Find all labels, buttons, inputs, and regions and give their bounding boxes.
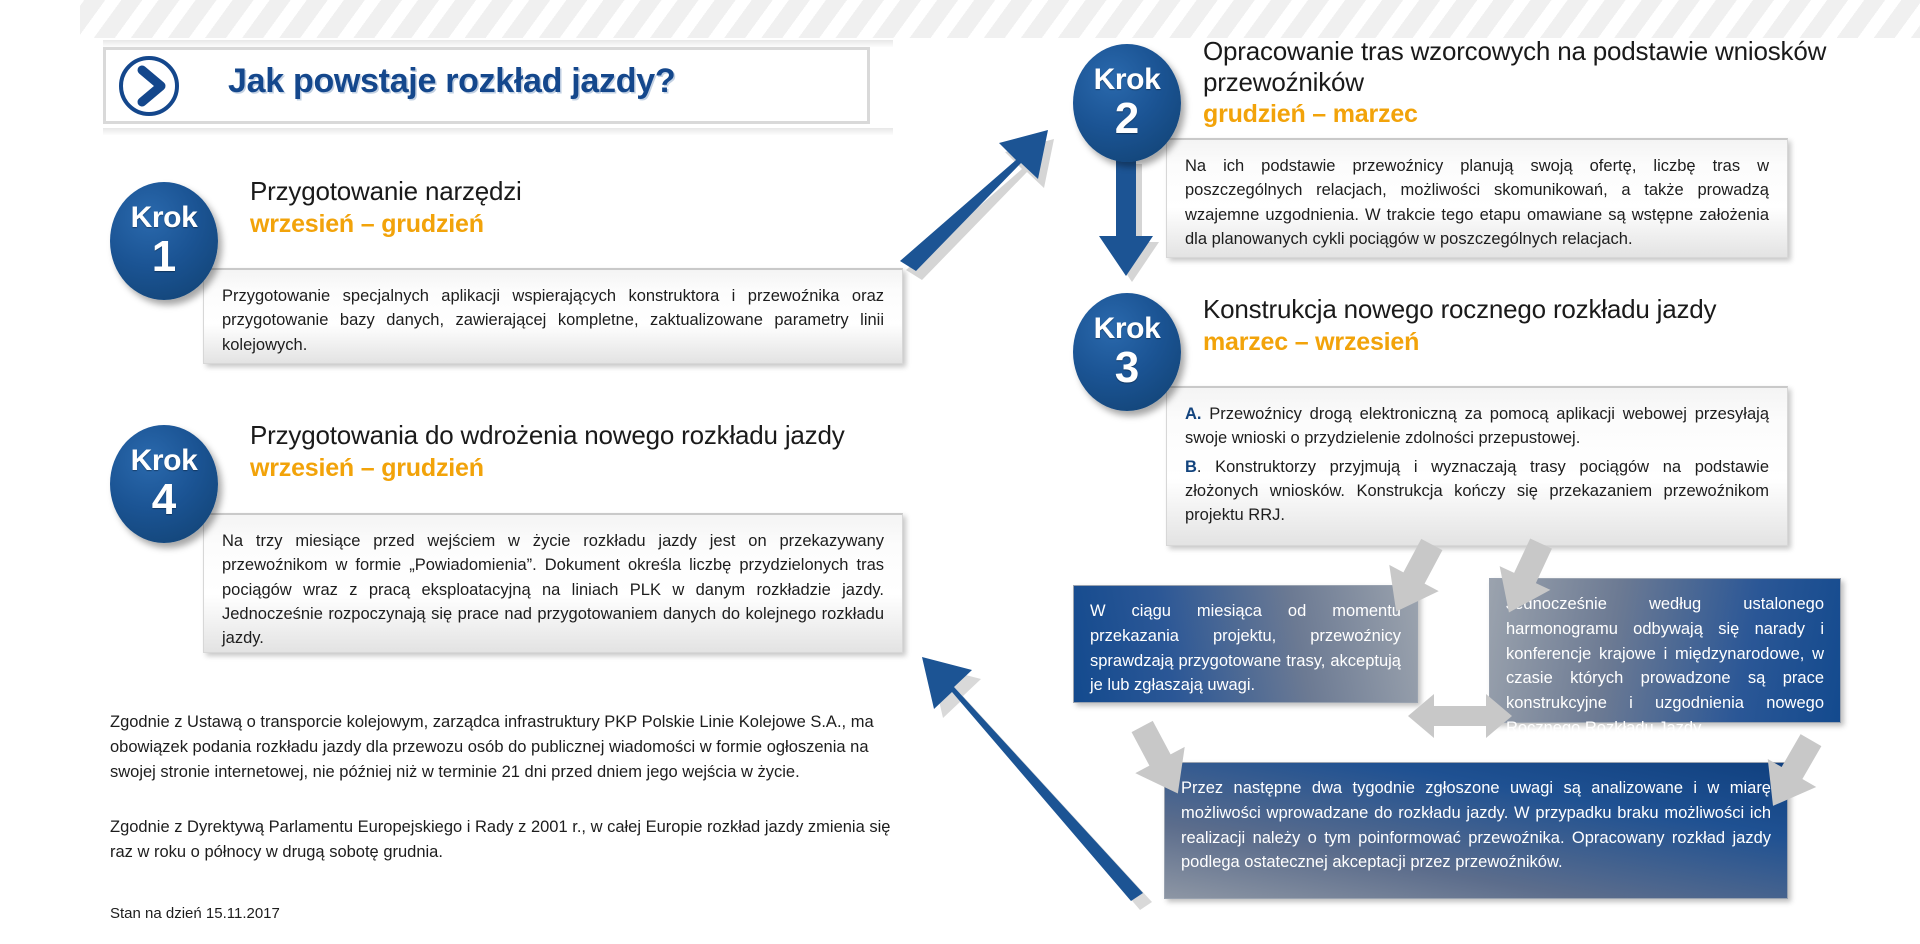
legal-paragraph-1: Zgodnie z Ustawą o transporcie kolejowym… <box>110 710 915 784</box>
step-2-heading: Opracowanie tras wzorcowych na podstawie… <box>1203 36 1843 129</box>
step-3-text-a: Przewoźnicy drogą elektroniczną za pomoc… <box>1185 405 1769 447</box>
step-3-heading: Konstrukcja nowego rocznego rozkładu jaz… <box>1203 294 1863 357</box>
arrow-step1-to-step2 <box>900 130 1100 275</box>
step-badge-number: 4 <box>152 478 176 522</box>
step-badge-1: Krok 1 <box>110 182 218 300</box>
step-3-letter-b: B <box>1185 458 1197 476</box>
step-1-body-text: Przygotowanie specjalnych aplikacji wspi… <box>204 270 902 367</box>
analysis-box: Przez następne dwa tygodnie zgłoszone uw… <box>1164 762 1788 899</box>
page-title: Jak powstaje rozkład jazdy? <box>228 62 675 101</box>
step-1-heading: Przygotowanie narzędzi wrzesień – grudzi… <box>250 176 890 239</box>
step-3-letter-a: A. <box>1185 405 1202 423</box>
infographic-canvas: Jak powstaje rozkład jazdy? Krok 1 Przyg… <box>0 0 1920 944</box>
step-4-heading: Przygotowania do wdrożenia nowego rozkła… <box>250 420 930 483</box>
arrow-review-conferences-bidirectional <box>1408 690 1512 742</box>
step-badge-3: Krok 3 <box>1073 293 1181 411</box>
step-1-body-box: Przygotowanie specjalnych aplikacji wspi… <box>203 268 903 364</box>
step-4-body-text: Na trzy miesiące przed wejściem w życie … <box>204 515 902 660</box>
step-3-title: Konstrukcja nowego rocznego rozkładu jaz… <box>1203 294 1863 325</box>
step-badge-label: Krok <box>131 446 198 476</box>
step-3-body-box: A. Przewoźnicy drogą elektroniczną za po… <box>1166 386 1788 546</box>
arrow-analysis-to-step4 <box>910 615 1160 905</box>
legal-paragraph-2: Zgodnie z Dyrektywą Parlamentu Europejsk… <box>110 815 915 865</box>
step-4-body-box: Na trzy miesiące przed wejściem w życie … <box>203 513 903 653</box>
step-2-body-box: Na ich podstawie przewoźnicy planują swo… <box>1166 138 1788 258</box>
analysis-box-text: Przez następne dwa tygodnie zgłoszone uw… <box>1165 763 1787 888</box>
step-3-period: marzec – wrzesień <box>1203 327 1863 357</box>
step-badge-label: Krok <box>131 203 198 233</box>
step-badge-number: 1 <box>152 235 176 279</box>
arrow-step3-to-review <box>1372 540 1444 620</box>
arrow-step3-to-conferences <box>1483 540 1555 620</box>
step-badge-label: Krok <box>1094 65 1161 95</box>
banner-top-sheen <box>103 40 893 47</box>
step-4-title: Przygotowania do wdrożenia nowego rozkła… <box>250 420 930 451</box>
banner-bottom-sheen <box>103 128 893 135</box>
step-badge-2: Krok 2 <box>1073 44 1181 162</box>
step-3-body-a: A. Przewoźnicy drogą elektroniczną za po… <box>1167 388 1787 455</box>
step-badge-4: Krok 4 <box>110 425 218 543</box>
arrow-conferences-to-analysis <box>1750 735 1826 819</box>
chevron-right-circle-icon <box>118 55 180 117</box>
date-stamp: Stan na dzień 15.11.2017 <box>110 905 280 922</box>
step-4-period: wrzesień – grudzień <box>250 453 930 483</box>
step-1-title: Przygotowanie narzędzi <box>250 176 890 207</box>
step-3-text-b: . Konstruktorzy przyjmują i wyznaczają t… <box>1185 458 1769 525</box>
step-3-body-b: B. Konstruktorzy przyjmują i wyznaczają … <box>1167 455 1787 538</box>
step-badge-number: 3 <box>1115 346 1139 390</box>
step-2-body-text: Na ich podstawie przewoźnicy planują swo… <box>1167 140 1787 261</box>
step-2-title: Opracowanie tras wzorcowych na podstawie… <box>1203 36 1843 97</box>
arrow-step2-to-step3 <box>1098 160 1162 290</box>
step-2-period: grudzień – marzec <box>1203 99 1843 129</box>
step-1-period: wrzesień – grudzień <box>250 209 890 239</box>
step-badge-number: 2 <box>1115 97 1139 141</box>
step-badge-label: Krok <box>1094 314 1161 344</box>
